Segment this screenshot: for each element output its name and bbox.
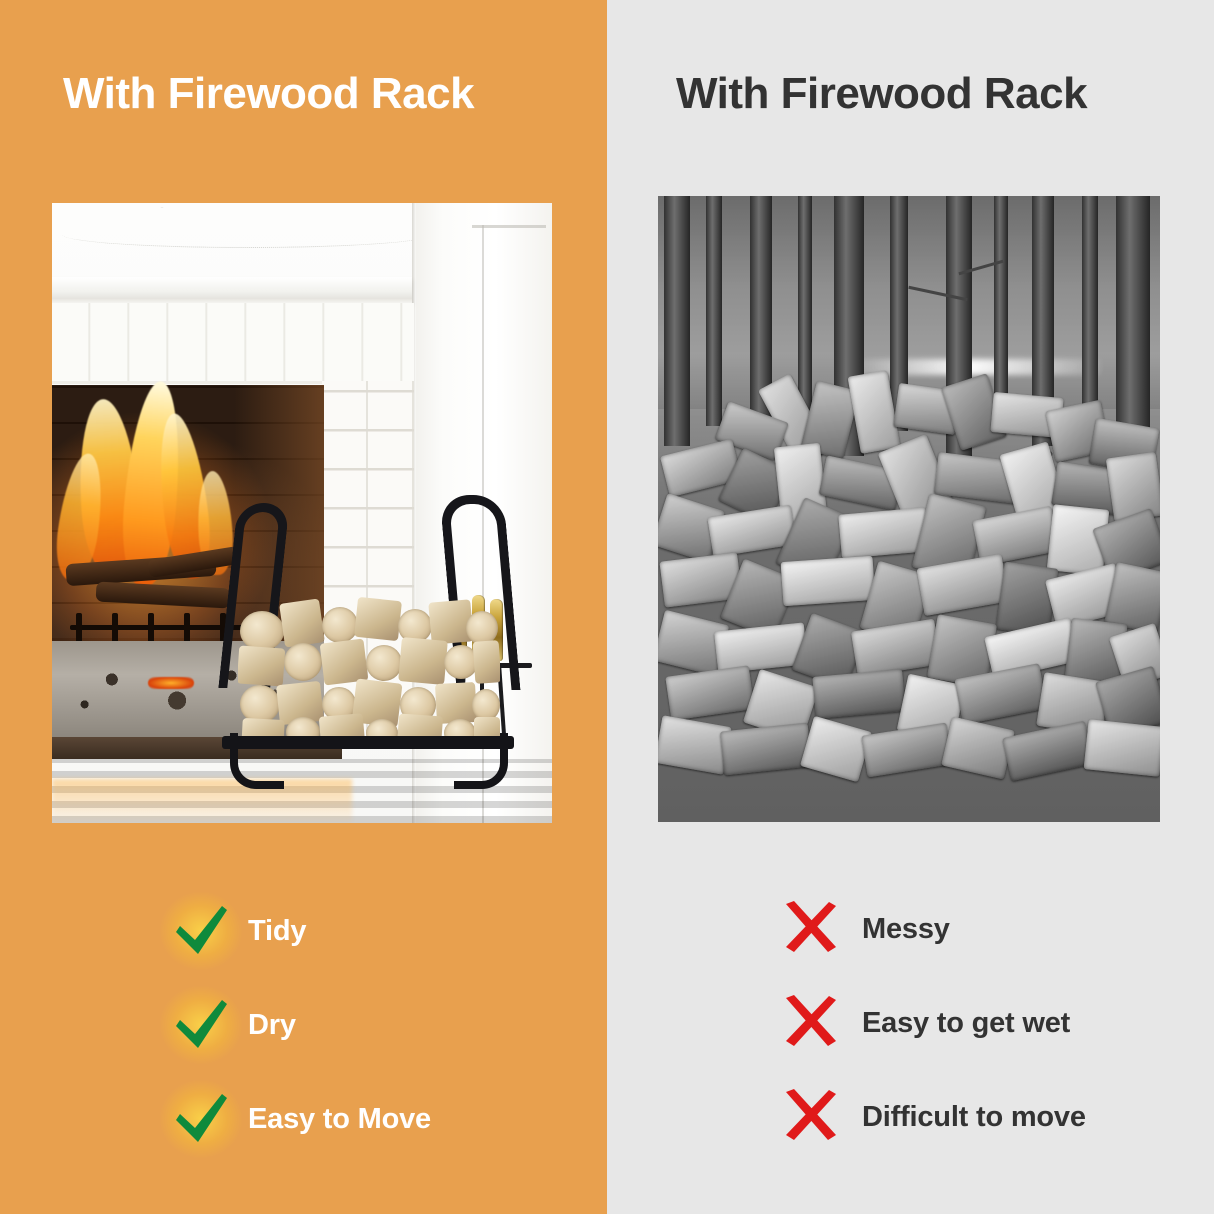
green-check-icon xyxy=(170,1090,232,1148)
list-item-label: Difficult to move xyxy=(862,1101,1086,1134)
list-item-label: Easy to Move xyxy=(248,1103,431,1136)
right-heading: With Firewood Rack xyxy=(676,72,1087,116)
red-x-icon xyxy=(782,900,844,958)
list-item: Easy to get wet xyxy=(782,987,1086,1059)
left-photo-fireplace-with-rack xyxy=(52,203,552,823)
green-check-icon xyxy=(170,902,232,960)
firewood-rack xyxy=(228,503,518,795)
red-x-icon xyxy=(782,994,844,1052)
ember xyxy=(148,677,194,689)
benefits-list: Tidy Dry Easy to Move xyxy=(170,895,431,1177)
list-item: Easy to Move xyxy=(170,1083,431,1155)
left-heading: With Firewood Rack xyxy=(63,72,474,116)
rack-foot-right xyxy=(454,733,508,789)
list-item: Difficult to move xyxy=(782,1081,1086,1153)
trim-cap xyxy=(472,225,546,228)
list-item-label: Dry xyxy=(248,1009,296,1042)
list-item-label: Easy to get wet xyxy=(862,1007,1070,1040)
stacked-logs xyxy=(238,595,500,745)
green-check-icon xyxy=(170,996,232,1054)
messy-log-pile xyxy=(658,371,1160,822)
list-item-label: Tidy xyxy=(248,915,306,948)
list-item-label: Messy xyxy=(862,913,950,946)
right-photo-messy-woodpile xyxy=(658,196,1160,822)
red-x-icon xyxy=(782,1088,844,1146)
comparison-graphic: With Firewood Rack With Firewood Rack xyxy=(0,0,1214,1214)
list-item: Messy xyxy=(782,893,1086,965)
list-item: Dry xyxy=(170,989,431,1061)
list-item: Tidy xyxy=(170,895,431,967)
rack-foot-left xyxy=(230,733,284,789)
beadboard-panel xyxy=(52,303,414,384)
drawbacks-list: Messy Easy to get wet Difficult to move xyxy=(782,893,1086,1175)
